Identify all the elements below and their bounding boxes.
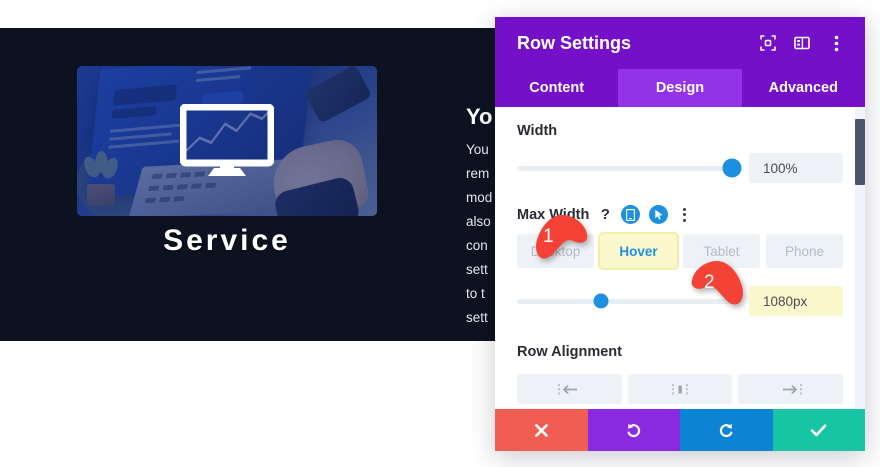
- width-slider-track[interactable]: [517, 166, 739, 171]
- tab-content[interactable]: Content: [495, 69, 618, 107]
- hero-text-line: also: [466, 210, 498, 234]
- save-button[interactable]: [773, 409, 866, 451]
- row-alignment-label: Row Alignment: [517, 344, 843, 360]
- screen: Service Learn More Yo You rem mod also c…: [0, 0, 880, 467]
- service-card-title: Service: [77, 224, 377, 258]
- hero-text-column: Yo You rem mod also con sett to t sett: [466, 56, 498, 341]
- align-left-icon[interactable]: [517, 374, 622, 404]
- panel-title: Row Settings: [517, 33, 749, 54]
- layout-icon[interactable]: [787, 28, 817, 58]
- max-width-slider-handle[interactable]: [594, 294, 609, 309]
- fullscreen-icon[interactable]: [753, 28, 783, 58]
- panel-header: Row Settings: [495, 17, 865, 69]
- max-width-kebab-icon[interactable]: [677, 206, 691, 224]
- hero-section: Service Learn More Yo You rem mod also c…: [0, 28, 498, 341]
- device-tab-phone[interactable]: Phone: [766, 234, 843, 268]
- hero-text-line: rem: [466, 162, 498, 186]
- kebab-menu-icon[interactable]: [821, 28, 851, 58]
- panel-scrollbar[interactable]: [855, 107, 865, 409]
- hero-text-line: You: [466, 138, 498, 162]
- cancel-button[interactable]: [495, 409, 588, 451]
- hero-text-line: con: [466, 234, 498, 258]
- hero-text-line: mod: [466, 186, 498, 210]
- row-alignment-options: [517, 374, 843, 404]
- hero-text-line: to t: [466, 282, 498, 306]
- cursor-icon[interactable]: [649, 205, 668, 224]
- help-icon[interactable]: ?: [598, 206, 612, 223]
- monitor-icon: [180, 104, 274, 178]
- redo-button[interactable]: [680, 409, 773, 451]
- panel-scrollbar-thumb[interactable]: [855, 119, 865, 185]
- panel-footer: [495, 409, 865, 451]
- hero-text-heading: Yo: [466, 104, 492, 130]
- max-width-value-field[interactable]: 1080px: [749, 286, 843, 316]
- callout-marker-2: 2: [688, 260, 746, 306]
- tablet-icon[interactable]: [621, 205, 640, 224]
- width-value-field[interactable]: 100%: [749, 153, 843, 183]
- service-image-card: [77, 66, 377, 216]
- hero-text-line: sett: [466, 306, 498, 330]
- hero-text-body: You rem mod also con sett to t sett: [466, 138, 498, 330]
- hero-text-line: sett: [466, 258, 498, 282]
- panel-tabs: Content Design Advanced: [495, 69, 865, 107]
- undo-button[interactable]: [588, 409, 681, 451]
- align-center-icon[interactable]: [628, 374, 733, 404]
- callout-marker-1: 1: [533, 214, 591, 260]
- width-slider-row: 100%: [517, 153, 843, 183]
- max-width-slider-row: 1080px: [517, 286, 843, 316]
- width-label: Width: [517, 123, 843, 139]
- device-tab-hover[interactable]: Hover: [600, 234, 677, 268]
- align-right-icon[interactable]: [738, 374, 843, 404]
- tab-design[interactable]: Design: [618, 69, 741, 107]
- width-slider-handle[interactable]: [723, 159, 742, 178]
- tab-advanced[interactable]: Advanced: [742, 69, 865, 107]
